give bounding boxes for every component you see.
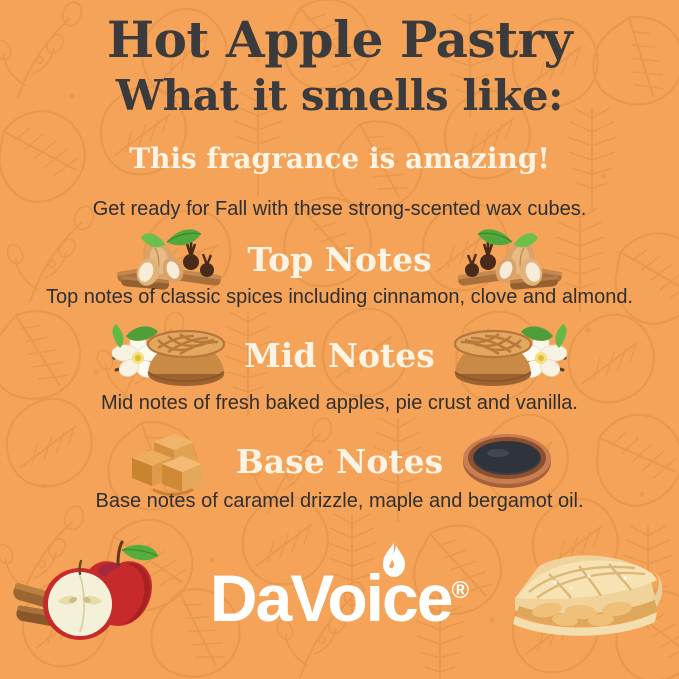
mid-notes-description: Mid notes of fresh baked apples, pie cru…	[0, 392, 679, 415]
tagline: This fragrance is amazing!	[0, 142, 679, 175]
brand-footer: DaVoice®	[0, 528, 679, 679]
registered-trademark-icon: ®	[451, 577, 469, 604]
brand-wordmark: DaVoice®	[210, 565, 469, 631]
product-infographic: Hot Apple Pastry What it smells like: Th…	[0, 0, 679, 679]
bergamot-oil-bowl-art	[457, 424, 575, 498]
top-notes-description: Top notes of classic spices including ci…	[0, 286, 679, 309]
page-title: Hot Apple Pastry	[0, 14, 679, 67]
cinnamon-almond-clove-art-mirror	[446, 222, 564, 296]
apple-pie-slice-art	[497, 540, 673, 652]
base-notes-description: Base notes of caramel drizzle, maple and…	[0, 490, 679, 513]
top-notes-heading: Top Notes	[247, 240, 431, 279]
caramel-cubes-art	[104, 424, 222, 498]
base-notes-heading: Base Notes	[236, 442, 443, 481]
cinnamon-almond-clove-art	[115, 222, 233, 296]
page-subtitle: What it smells like:	[0, 74, 679, 118]
flame-icon	[381, 543, 407, 577]
brand-name: DaVoice	[210, 561, 452, 635]
intro-text: Get ready for Fall with these strong-sce…	[0, 198, 679, 221]
mid-notes-band: Mid Notes	[0, 318, 679, 392]
mid-notes-heading: Mid Notes	[244, 336, 435, 375]
apple-pie-vanilla-art	[112, 318, 230, 392]
content-stack: Hot Apple Pastry What it smells like: Th…	[0, 0, 679, 679]
apple-pie-vanilla-art-mirror	[449, 318, 567, 392]
top-notes-band: Top Notes	[0, 222, 679, 296]
base-notes-band: Base Notes	[0, 424, 679, 498]
